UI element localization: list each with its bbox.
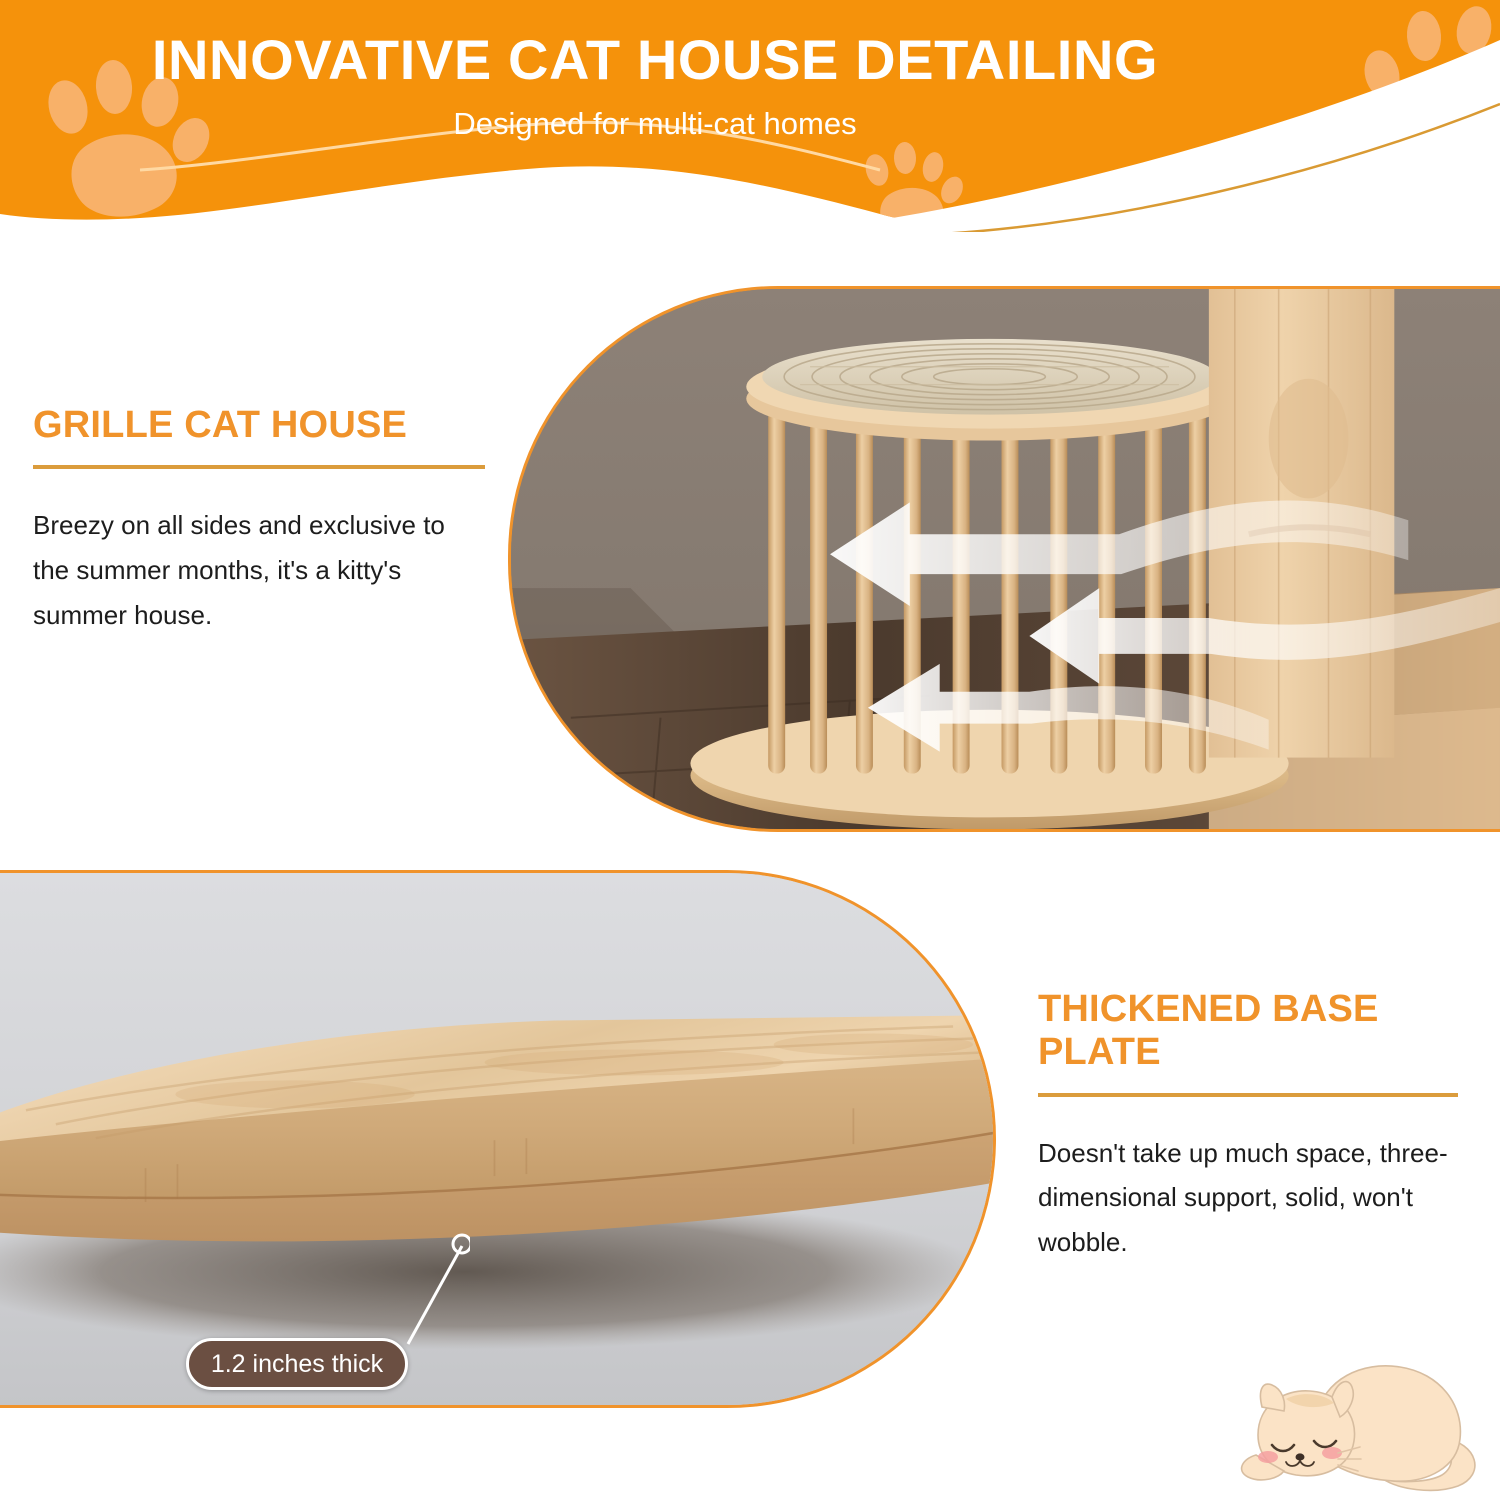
cat-nose <box>1296 1453 1305 1460</box>
cat-cheek <box>1258 1451 1278 1463</box>
header-banner: INNOVATIVE CAT HOUSE DETAILING Designed … <box>0 0 1500 232</box>
page-title: INNOVATIVE CAT HOUSE DETAILING <box>0 30 1310 89</box>
feature-body-base-plate: Doesn't take up much space, three-dimens… <box>1038 1131 1458 1265</box>
title-divider <box>33 465 485 469</box>
title-divider <box>1038 1093 1458 1097</box>
base-plate-photo <box>0 873 993 1408</box>
page-subtitle: Designed for multi-cat homes <box>0 105 1310 142</box>
feature-body-grille: Breezy on all sides and exclusive to the… <box>33 503 485 637</box>
sleeping-cat-icon <box>1228 1343 1490 1495</box>
feature-block-base-plate: THICKENED BASE PLATE Doesn't take up muc… <box>1038 988 1458 1265</box>
grille-cat-house-photo <box>511 289 1500 832</box>
feature-photo-grille-cat-house <box>508 286 1500 832</box>
feature-photo-base-plate <box>0 870 996 1408</box>
feature-title-base-plate: THICKENED BASE PLATE <box>1038 988 1458 1075</box>
feature-title-grille: GRILLE CAT HOUSE <box>33 404 485 447</box>
feature-block-grille: GRILLE CAT HOUSE Breezy on all sides and… <box>33 404 485 637</box>
callout-leader-line <box>390 1232 470 1352</box>
product-infographic: INNOVATIVE CAT HOUSE DETAILING Designed … <box>0 0 1500 1497</box>
thickness-callout: 1.2 inches thick <box>186 1338 408 1390</box>
